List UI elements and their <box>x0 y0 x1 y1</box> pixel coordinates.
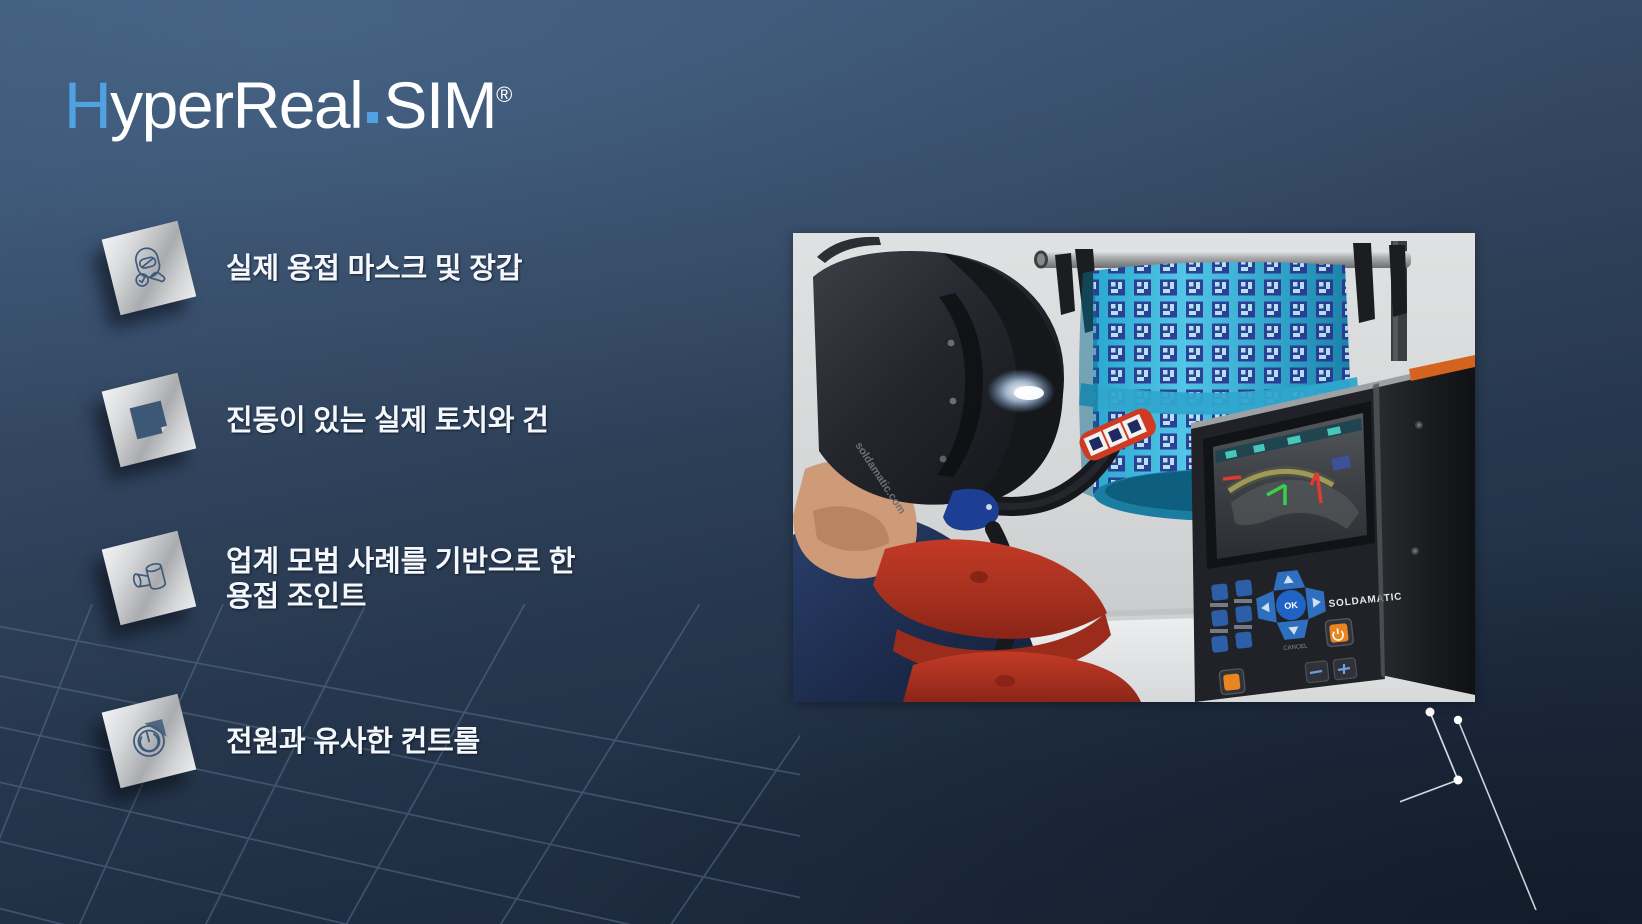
feature-label: 업계 모범 사례를 기반으로 한 용접 조인트 <box>226 545 575 616</box>
logo-word-hyperreal: yperReal <box>110 68 362 142</box>
feature-item-torch-gun: 진동이 있는 실제 토치와 건 <box>96 367 549 477</box>
registered-trademark-icon: ® <box>496 82 512 107</box>
feature-label: 전원과 유사한 컨트롤 <box>226 725 480 760</box>
product-logo: HyperRealSIM® <box>64 72 512 138</box>
logo-separator-dot <box>367 112 378 123</box>
feature-label: 진동이 있는 실제 토치와 건 <box>226 404 549 439</box>
photo-illustration: soldamatic.com <box>793 233 1475 702</box>
feature-icon-tile-wrap <box>96 215 216 325</box>
feature-icon-tile-wrap <box>96 367 216 477</box>
feature-item-power-controls: 전원과 유사한 컨트롤 <box>96 688 480 798</box>
logo-word-sim: SIM <box>383 68 496 142</box>
constellation-svg <box>1400 700 1620 910</box>
welding-mask-inspection-icon <box>102 221 197 316</box>
slide-root: HyperRealSIM® <box>0 0 1642 924</box>
logo-letter-h: H <box>64 68 110 142</box>
feature-label: 실제 용접 마스크 및 장갑 <box>226 252 522 287</box>
feature-item-weld-joints: 업계 모범 사례를 기반으로 한 용접 조인트 <box>96 525 575 635</box>
feature-icon-tile-wrap <box>96 525 216 635</box>
welding-simulator-photo: soldamatic.com <box>793 233 1475 702</box>
constellation-lines <box>1400 700 1620 910</box>
feature-icon-tile-wrap <box>96 688 216 798</box>
console-ok-label: OK <box>1284 600 1299 611</box>
feature-item-welding-gear: 실제 용접 마스크 및 장갑 <box>96 215 522 325</box>
power-button-icon <box>102 694 197 789</box>
constellation-decoration <box>1400 700 1620 910</box>
vibration-panel-icon <box>102 373 197 468</box>
pipe-joint-icon <box>102 531 197 626</box>
